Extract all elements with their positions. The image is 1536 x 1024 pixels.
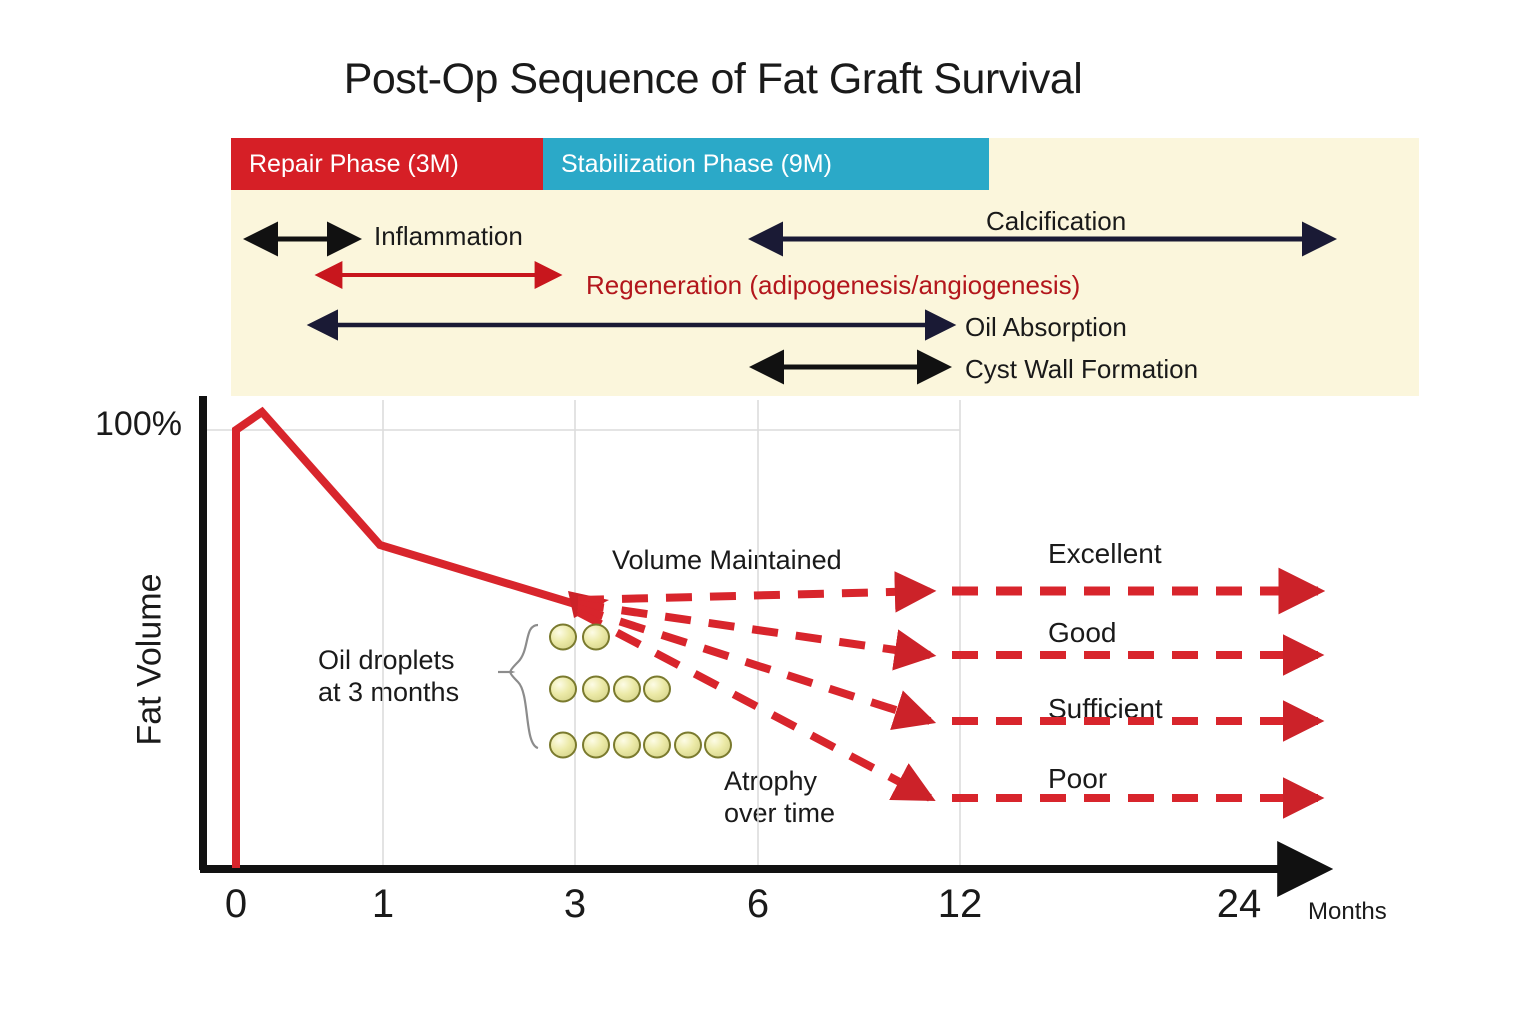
annotation-oil-droplets: Oil droplets at 3 months xyxy=(318,645,459,709)
outcome-branch-sufficient xyxy=(578,608,930,721)
oil-droplets-brace xyxy=(498,625,538,748)
x-tick-0: 0 xyxy=(201,882,271,927)
phase-stabilization-label: Stabilization Phase (9M) xyxy=(561,152,832,177)
outcome-label-excellent: Excellent xyxy=(1048,538,1162,570)
plot-gridlines xyxy=(205,400,960,866)
x-tick-1: 1 xyxy=(348,882,418,927)
outcome-label-good: Good xyxy=(1048,617,1117,649)
process-label-calcification: Calcification xyxy=(986,208,1126,234)
x-tick-6: 6 xyxy=(723,882,793,927)
y-axis-top-tick-label: 100% xyxy=(95,405,182,444)
phase-bar-stabilization[interactable]: Stabilization Phase (9M) xyxy=(543,138,989,190)
y-axis-title: Fat Volume xyxy=(131,500,170,820)
annotation-atrophy-line2: over time xyxy=(724,798,835,830)
process-label-oil-absorption: Oil Absorption xyxy=(965,314,1127,340)
process-label-regeneration: Regeneration (adipogenesis/angiogenesis) xyxy=(586,272,1080,298)
phase-repair-label: Repair Phase (3M) xyxy=(249,152,459,177)
diagram-canvas: Post-Op Sequence of Fat Graft Survival R… xyxy=(0,0,1536,1024)
process-label-cyst-wall-formation: Cyst Wall Formation xyxy=(965,356,1198,382)
phase-bar-repair[interactable]: Repair Phase (3M) xyxy=(231,138,543,190)
x-axis-title: Months xyxy=(1308,898,1387,926)
process-label-inflammation: Inflammation xyxy=(374,223,523,249)
outcome-branch-good xyxy=(578,604,930,655)
timeline-panel: Repair Phase (3M) Stabilization Phase (9… xyxy=(231,138,1419,396)
x-tick-24: 24 xyxy=(1196,882,1282,927)
fat-volume-curve xyxy=(236,412,609,868)
outcome-label-sufficient: Sufficient xyxy=(1048,693,1163,725)
outcome-branch-excellent xyxy=(578,591,930,600)
annotation-atrophy-line1: Atrophy xyxy=(724,766,835,798)
annotation-oil-droplets-line1: Oil droplets xyxy=(318,645,459,677)
x-tick-3: 3 xyxy=(540,882,610,927)
x-tick-12: 12 xyxy=(917,882,1003,927)
annotation-atrophy: Atrophy over time xyxy=(724,766,835,830)
annotation-oil-droplets-line2: at 3 months xyxy=(318,677,459,709)
outcome-label-poor: Poor xyxy=(1048,763,1107,795)
oil-droplets-group xyxy=(550,625,731,758)
page-title: Post-Op Sequence of Fat Graft Survival xyxy=(0,55,1536,104)
annotation-volume-maintained: Volume Maintained xyxy=(612,545,842,577)
